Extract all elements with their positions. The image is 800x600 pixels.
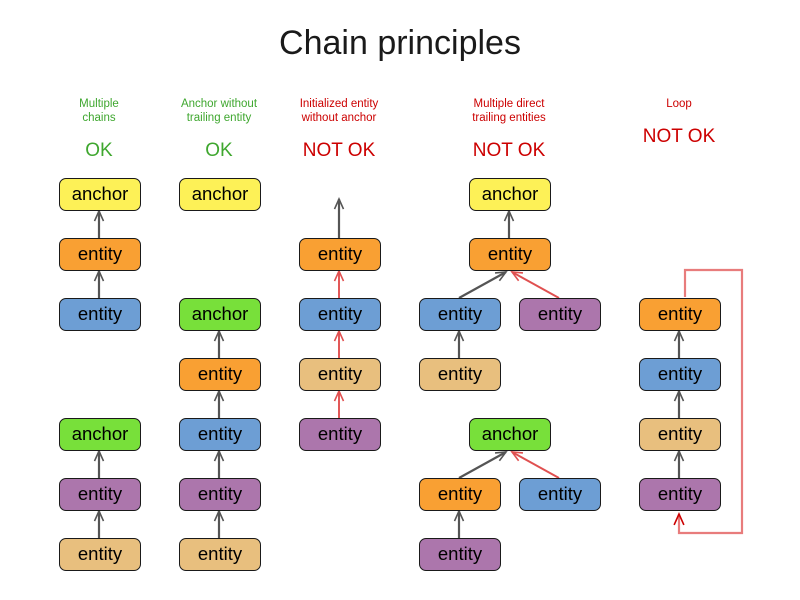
node-entity[interactable]: entity	[59, 538, 141, 571]
node-entity[interactable]: entity	[59, 298, 141, 331]
node-entity[interactable]: entity	[299, 358, 381, 391]
column-header-initialized-entity-without-anchor: Initialized entity without anchorNOT OK	[249, 97, 429, 162]
node-entity[interactable]: entity	[419, 358, 501, 391]
node-entity[interactable]: entity	[179, 478, 261, 511]
node-entity[interactable]: entity	[179, 538, 261, 571]
node-anchor[interactable]: anchor	[59, 418, 141, 451]
node-entity[interactable]: entity	[59, 478, 141, 511]
node-entity[interactable]: entity	[639, 478, 721, 511]
node-entity[interactable]: entity	[419, 478, 501, 511]
diagram-canvas: Chain principles Multiple chainsOKAnchor…	[0, 0, 800, 600]
column-caption-multiple-direct-trailing-entities: Multiple direct trailing entities	[419, 97, 599, 125]
node-entity[interactable]: entity	[419, 298, 501, 331]
node-anchor[interactable]: anchor	[179, 178, 261, 211]
column-header-loop: LoopNOT OK	[589, 97, 769, 148]
node-entity[interactable]: entity	[59, 238, 141, 271]
edge-arrow	[459, 452, 506, 478]
node-entity[interactable]: entity	[299, 298, 381, 331]
node-anchor[interactable]: anchor	[469, 418, 551, 451]
node-entity[interactable]: entity	[179, 418, 261, 451]
node-entity[interactable]: entity	[299, 238, 381, 271]
edge-arrow	[459, 272, 506, 298]
node-anchor[interactable]: anchor	[59, 178, 141, 211]
column-verdict-initialized-entity-without-anchor: NOT OK	[249, 140, 429, 162]
node-entity[interactable]: entity	[419, 538, 501, 571]
node-entity[interactable]: entity	[519, 478, 601, 511]
node-entity[interactable]: entity	[179, 358, 261, 391]
node-entity[interactable]: entity	[639, 418, 721, 451]
node-anchor[interactable]: anchor	[179, 298, 261, 331]
column-caption-initialized-entity-without-anchor: Initialized entity without anchor	[249, 97, 429, 125]
edge-arrow	[512, 452, 559, 478]
node-entity[interactable]: entity	[519, 298, 601, 331]
edge-arrow	[512, 272, 559, 298]
node-entity[interactable]: entity	[639, 298, 721, 331]
column-caption-loop: Loop	[589, 97, 769, 111]
node-entity[interactable]: entity	[299, 418, 381, 451]
column-verdict-multiple-direct-trailing-entities: NOT OK	[419, 140, 599, 162]
node-entity[interactable]: entity	[639, 358, 721, 391]
column-verdict-loop: NOT OK	[589, 126, 769, 148]
node-anchor[interactable]: anchor	[469, 178, 551, 211]
node-entity[interactable]: entity	[469, 238, 551, 271]
column-header-multiple-direct-trailing-entities: Multiple direct trailing entitiesNOT OK	[419, 97, 599, 162]
